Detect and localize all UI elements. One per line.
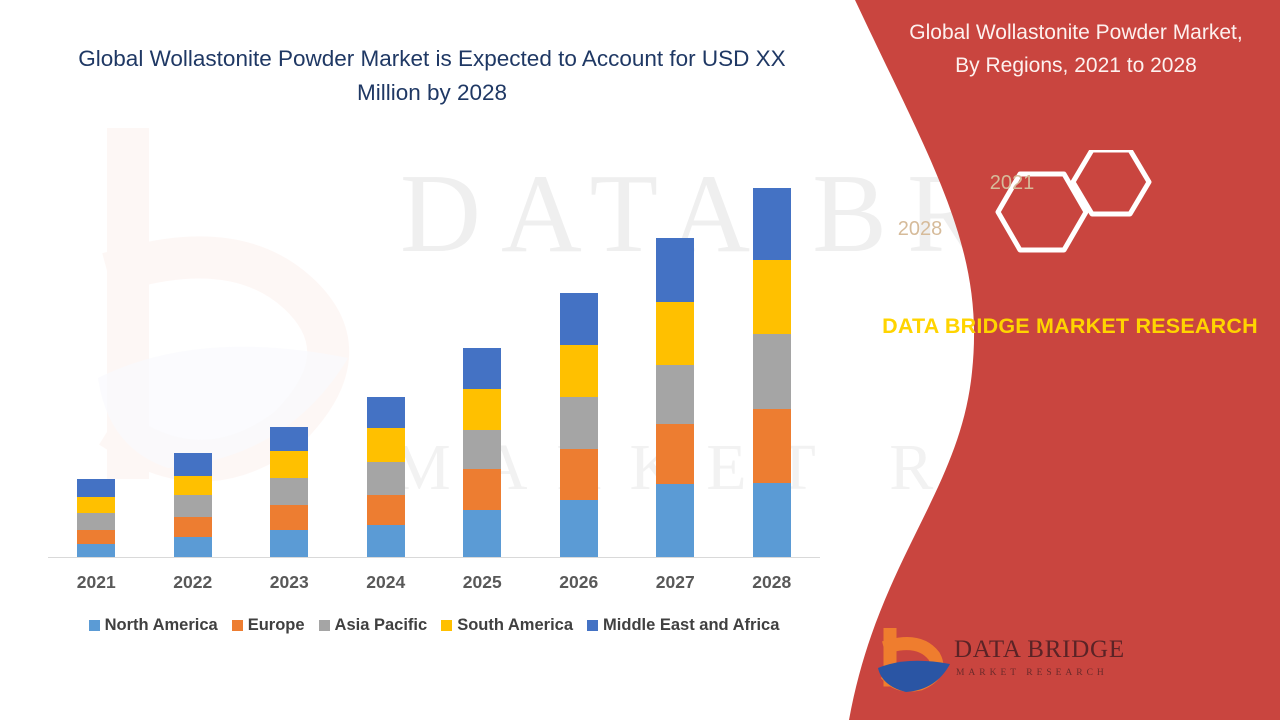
legend-swatch-icon: [587, 620, 598, 631]
x-axis-label: 2023: [244, 572, 334, 593]
bar-segment[interactable]: [77, 544, 115, 557]
data-bridge-logo: DATA BRIDGE MARKET RESEARCH: [876, 628, 1126, 700]
legend-item[interactable]: Asia Pacific: [319, 616, 428, 635]
bar-group[interactable]: [367, 397, 405, 557]
x-axis-label: 2024: [341, 572, 431, 593]
bar-segment[interactable]: [656, 424, 694, 484]
bar-segment[interactable]: [560, 345, 598, 398]
legend-label: Middle East and Africa: [603, 616, 779, 635]
bar-segment[interactable]: [270, 505, 308, 530]
bar-segment[interactable]: [463, 510, 501, 557]
bar-segment[interactable]: [656, 238, 694, 302]
bar-segment[interactable]: [560, 500, 598, 557]
bar-segment[interactable]: [753, 188, 791, 260]
logo-subtitle: MARKET RESEARCH: [956, 668, 1108, 678]
bar-segment[interactable]: [270, 427, 308, 451]
bar-group[interactable]: [270, 427, 308, 557]
x-axis-label: 2028: [727, 572, 817, 593]
legend-swatch-icon: [319, 620, 330, 631]
legend-swatch-icon: [89, 620, 100, 631]
bar-segment[interactable]: [367, 428, 405, 462]
bar-segment[interactable]: [367, 397, 405, 428]
logo-mark-icon: [876, 628, 956, 696]
bar-segment[interactable]: [367, 462, 405, 496]
bar-group[interactable]: [560, 293, 598, 557]
bar-group[interactable]: [463, 348, 501, 557]
x-axis-label: 2025: [437, 572, 527, 593]
chart-panel: Global Wollastonite Powder Market is Exp…: [0, 0, 860, 720]
legend-item[interactable]: North America: [89, 616, 218, 635]
logo-title: DATA BRIDGE: [954, 636, 1125, 664]
bar-segment[interactable]: [560, 293, 598, 345]
bar-group[interactable]: [753, 188, 791, 557]
hexagon-2028-label: 2028: [880, 218, 960, 241]
bar-segment[interactable]: [560, 397, 598, 449]
x-axis-label: 2022: [148, 572, 238, 593]
bar-segment[interactable]: [656, 484, 694, 557]
bar-segment[interactable]: [174, 517, 212, 537]
legend-item[interactable]: Middle East and Africa: [587, 616, 779, 635]
bar-segment[interactable]: [174, 537, 212, 557]
bar-segment[interactable]: [270, 530, 308, 557]
bar-segment[interactable]: [367, 495, 405, 525]
legend-label: Europe: [248, 616, 305, 635]
hexagon-2021-icon: [1073, 150, 1149, 214]
bar-segment[interactable]: [174, 476, 212, 496]
slide-canvas: DATA BRIDGE MARKET RESEARCH Global Wolla…: [0, 0, 1280, 720]
legend-swatch-icon: [441, 620, 452, 631]
x-axis-line: [48, 557, 820, 558]
x-axis-label: 2021: [51, 572, 141, 593]
legend-item[interactable]: South America: [441, 616, 573, 635]
legend-label: North America: [105, 616, 218, 635]
bar-segment[interactable]: [270, 451, 308, 478]
x-axis-label: 2026: [534, 572, 624, 593]
legend-label: South America: [457, 616, 573, 635]
bar-segment[interactable]: [77, 497, 115, 514]
bar-segment[interactable]: [174, 495, 212, 517]
bar-group[interactable]: [656, 238, 694, 557]
bar-chart-plot: [48, 160, 820, 558]
bar-segment[interactable]: [656, 302, 694, 366]
bar-segment[interactable]: [560, 449, 598, 501]
bar-segment[interactable]: [753, 409, 791, 482]
bar-segment[interactable]: [753, 260, 791, 333]
legend-label: Asia Pacific: [335, 616, 428, 635]
legend-item[interactable]: Europe: [232, 616, 305, 635]
panel-title: Global Wollastonite Powder Market, By Re…: [896, 16, 1256, 82]
red-panel-content: Global Wollastonite Powder Market, By Re…: [860, 0, 1280, 720]
bar-segment[interactable]: [77, 479, 115, 497]
x-axis-labels: 20212022202320242025202620272028: [48, 572, 820, 602]
bar-segment[interactable]: [463, 348, 501, 390]
legend-swatch-icon: [232, 620, 243, 631]
bar-segment[interactable]: [463, 469, 501, 511]
bar-segment[interactable]: [367, 525, 405, 557]
bar-group[interactable]: [77, 479, 115, 557]
bar-segment[interactable]: [174, 453, 212, 476]
bar-segment[interactable]: [463, 430, 501, 469]
chart-title: Global Wollastonite Powder Market is Exp…: [46, 42, 818, 110]
brand-name: DATA BRIDGE MARKET RESEARCH: [870, 310, 1270, 342]
hexagon-pair: [982, 150, 1192, 280]
chart-legend: North AmericaEuropeAsia PacificSouth Ame…: [48, 616, 820, 635]
hexagon-2021-label: 2021: [972, 172, 1052, 195]
bar-segment[interactable]: [77, 530, 115, 544]
bar-group[interactable]: [174, 453, 212, 557]
bar-segment[interactable]: [656, 365, 694, 424]
bar-segment[interactable]: [463, 389, 501, 430]
bar-segment[interactable]: [753, 483, 791, 557]
bar-segment[interactable]: [270, 478, 308, 506]
bar-segment[interactable]: [753, 334, 791, 409]
bar-segment[interactable]: [77, 513, 115, 530]
x-axis-label: 2027: [630, 572, 720, 593]
